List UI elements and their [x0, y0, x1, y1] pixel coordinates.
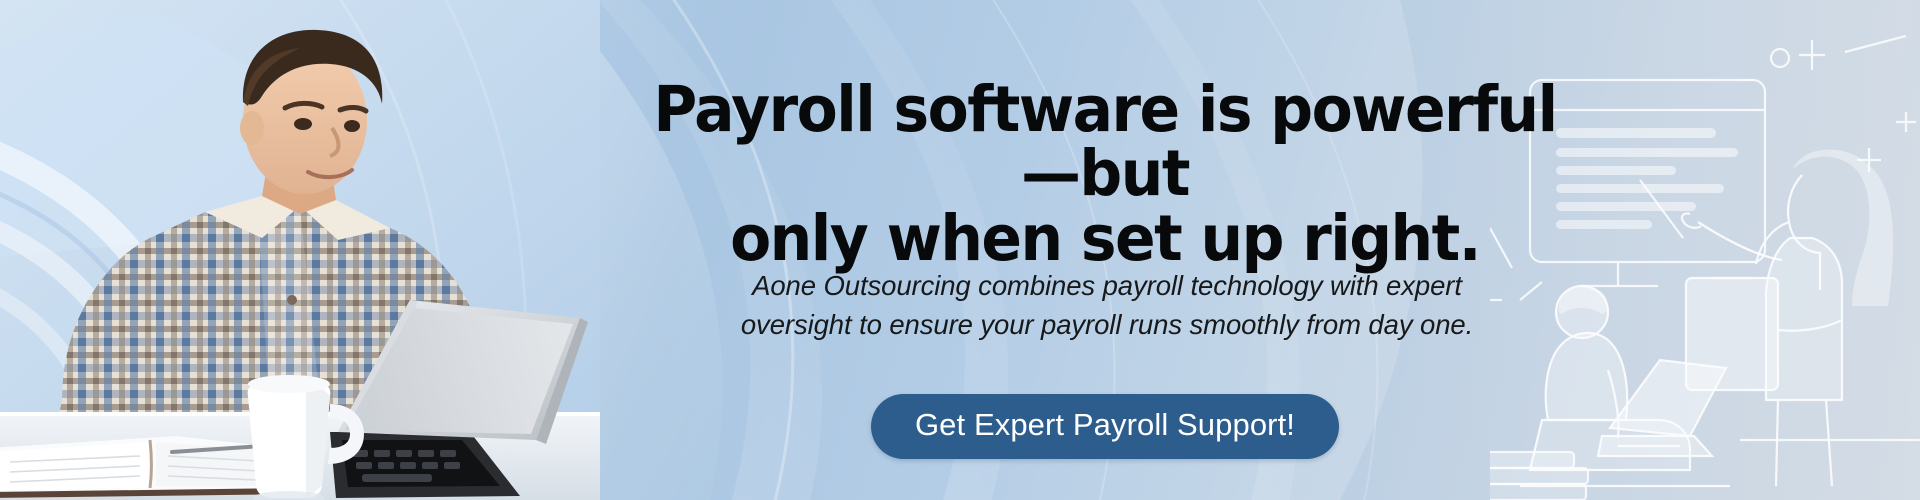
- get-expert-payroll-support-button[interactable]: Get Expert Payroll Support!: [871, 394, 1339, 459]
- subheadline-line-2: oversight to ensure your payroll runs sm…: [622, 305, 1592, 344]
- subheadline: Aone Outsourcing combines payroll techno…: [622, 266, 1592, 344]
- subheadline-line-1: Aone Outsourcing combines payroll techno…: [752, 270, 1462, 301]
- hero-photo: [0, 0, 600, 500]
- headline-line-2: only when set up right.: [625, 207, 1585, 271]
- headline-line-1: Payroll software is powerful—but: [653, 73, 1556, 210]
- promo-banner: Payroll software is powerful—but only wh…: [0, 0, 1920, 500]
- cta-container: Get Expert Payroll Support!: [600, 394, 1610, 459]
- person-at-desk-photo: [0, 0, 600, 500]
- page-title: Payroll software is powerful—but only wh…: [625, 78, 1585, 271]
- banner-content: Payroll software is powerful—but only wh…: [600, 0, 1610, 500]
